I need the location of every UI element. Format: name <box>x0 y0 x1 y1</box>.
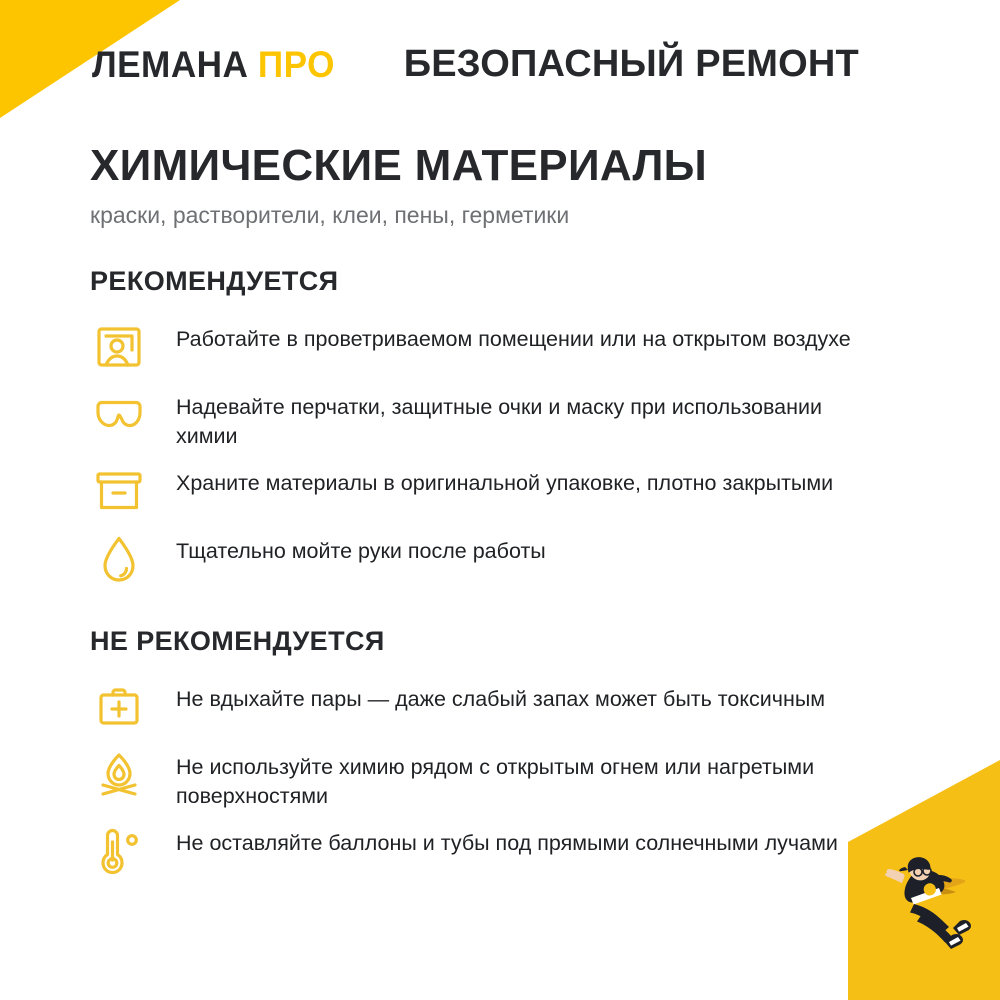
thermometer-sun-icon <box>90 821 148 879</box>
list-item: Не вдыхайте пары — даже слабый запах мож… <box>90 677 940 735</box>
not-recommended-list: Не вдыхайте пары — даже слабый запах мож… <box>90 677 940 879</box>
section-heading-not-recommended: НЕ РЕКОМЕНДУЕТСЯ <box>90 628 940 655</box>
section-recommended: РЕКОМЕНДУЕТСЯ Работайте в проветриваемом… <box>90 268 940 597</box>
page-title: ХИМИЧЕСКИЕ МАТЕРИАЛЫ <box>90 142 930 190</box>
list-item-text: Работайте в проветриваемом помещении или… <box>176 317 851 354</box>
ventilation-window-icon <box>90 317 148 375</box>
page-subtitle: краски, растворители, клеи, пены, гермет… <box>90 202 930 230</box>
list-item: Не оставляйте баллоны и тубы под прямыми… <box>90 821 940 879</box>
list-item-text: Тщательно мойте руки после работы <box>176 529 546 566</box>
list-item-text: Не вдыхайте пары — даже слабый запах мож… <box>176 677 825 714</box>
list-item-text: Не используйте химию рядом с открытым ог… <box>176 745 876 811</box>
list-item: Надевайте перчатки, защитные очки и маск… <box>90 385 940 451</box>
poster-header: ЛЕМАНАПРО БЕЗОПАСНЫЙ РЕМОНТ <box>92 38 940 90</box>
list-item-text: Надевайте перчатки, защитные очки и маск… <box>176 385 876 451</box>
brand-logo-main: ЛЕМАНА <box>92 44 248 85</box>
water-droplet-icon <box>90 529 148 587</box>
list-item: Храните материалы в оригинальной упаковк… <box>90 461 940 519</box>
flying-superhero-mascot <box>856 836 988 954</box>
safety-poster: ЛЕМАНАПРО БЕЗОПАСНЫЙ РЕМОНТ ХИМИЧЕСКИЕ М… <box>0 0 1000 1000</box>
list-item-text: Храните материалы в оригинальной упаковк… <box>176 461 833 498</box>
safety-goggles-icon <box>90 385 148 443</box>
list-item: Тщательно мойте руки после работы <box>90 529 940 587</box>
recommended-list: Работайте в проветриваемом помещении или… <box>90 317 940 587</box>
first-aid-kit-icon <box>90 677 148 735</box>
header-title: БЕЗОПАСНЫЙ РЕМОНТ <box>404 45 859 83</box>
campfire-flame-icon <box>90 745 148 803</box>
list-item: Не используйте химию рядом с открытым ог… <box>90 745 940 811</box>
list-item-text: Не оставляйте баллоны и тубы под прямыми… <box>176 821 838 858</box>
section-heading-recommended: РЕКОМЕНДУЕТСЯ <box>90 268 940 295</box>
storage-box-icon <box>90 461 148 519</box>
brand-logo-accent: ПРО <box>258 44 335 85</box>
list-item: Работайте в проветриваемом помещении или… <box>90 317 940 375</box>
section-not-recommended: НЕ РЕКОМЕНДУЕТСЯ Не вдыхайте пары — даже… <box>90 628 940 889</box>
title-block: ХИМИЧЕСКИЕ МАТЕРИАЛЫ краски, растворител… <box>90 142 930 230</box>
brand-logo: ЛЕМАНАПРО <box>92 46 335 83</box>
